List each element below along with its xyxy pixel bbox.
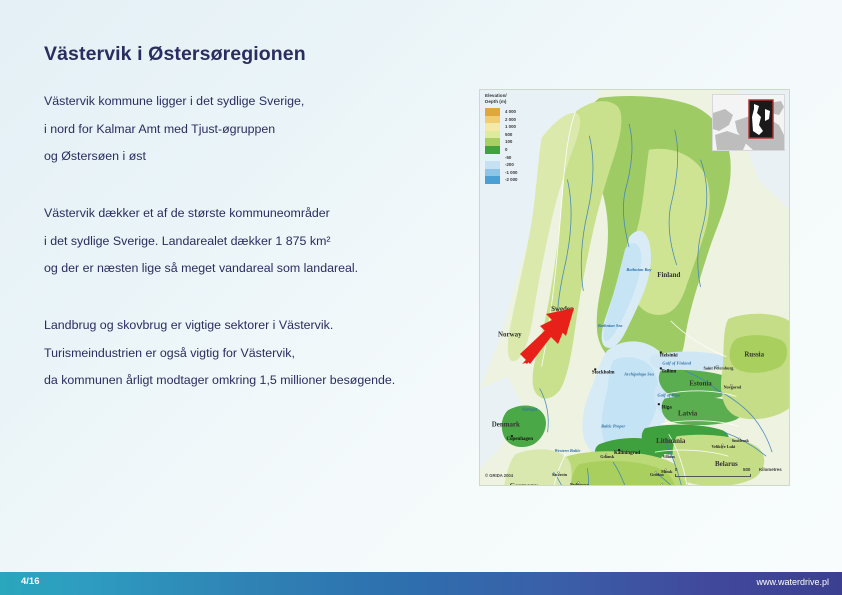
map-scale-labels: 0 500 Kilometres — [675, 467, 783, 474]
map-legend-label: 100 — [505, 138, 512, 146]
map-legend-label: -200 — [505, 161, 514, 169]
map-sea-label: Bothnian Sea — [597, 323, 623, 328]
map-city-dot — [577, 482, 579, 484]
body-line: Landbrug og skovbrug er vigtige sektorer… — [44, 312, 395, 340]
map-legend-swatch — [485, 161, 500, 169]
map-capital-label: Tallinn — [661, 370, 676, 375]
map-legend-row: 1 000 — [485, 123, 547, 131]
map-city-dot — [605, 454, 607, 456]
map-country-label: Lithuania — [656, 437, 686, 445]
map-capital-label: Copenhagen — [506, 437, 533, 442]
map-city-label: Novgorod — [724, 384, 742, 389]
map-legend-swatch — [485, 176, 500, 184]
map-scale-max: 500 — [743, 467, 750, 472]
map-credit-text: © GRIDA 2004 — [485, 473, 513, 478]
map-legend-row: 0 — [485, 146, 547, 154]
map-legend: Elevation/ Depth (m) 4 0002 0001 0005001… — [485, 93, 547, 184]
map-country-label: Russia — [744, 351, 764, 359]
map-capital-label: Riga — [662, 405, 672, 410]
map-sea-label: Western Baltic — [554, 448, 580, 453]
map-country-label: Germany — [510, 482, 539, 485]
map-city-label: Szczecin — [552, 472, 568, 477]
map-sea-label: Gulf of Finland — [662, 361, 691, 366]
map-legend-swatch — [485, 169, 500, 177]
map-scale-bar: 0 500 Kilometres — [675, 467, 783, 477]
map-city-label: Smolensk — [732, 438, 750, 443]
map-legend-swatch — [485, 108, 500, 116]
map-capital-label: Stockholm — [592, 371, 615, 376]
map-scale-min: 0 — [675, 467, 677, 472]
map-capital-marker — [660, 351, 662, 353]
body-paragraph-2: Västervik dækker et af de største kommun… — [44, 200, 358, 283]
map-legend-row: -1 000 — [485, 169, 547, 177]
slide-canvas: Västervik i Østersøregionen Västervik ko… — [0, 0, 842, 595]
map-city-label: Brest — [658, 484, 668, 485]
map-sea-label: Gulf of Riga — [658, 392, 681, 397]
body-line: i nord for Kalmar Amt med Tjust-øgruppen — [44, 116, 304, 144]
map-legend-label: -1 000 — [505, 169, 517, 177]
map-legend-row: 4 000 — [485, 108, 547, 116]
map-sea-label: Kattegat — [521, 406, 538, 411]
map-legend-label: 1 000 — [505, 123, 516, 131]
map-city-dot — [738, 438, 740, 440]
map-legend-row: 100 — [485, 138, 547, 146]
body-line: og Østersøen i øst — [44, 143, 304, 171]
map-city-dot — [667, 454, 669, 456]
map-country-label: Denmark — [492, 420, 520, 428]
map-legend-rows: 4 0002 0001 0005001000-50-200-1 000-2 00… — [485, 108, 547, 184]
map-legend-label: 4 000 — [505, 108, 516, 116]
body-line: Västervik dækker et af de største kommun… — [44, 200, 358, 228]
map-city-label: Gdansk — [600, 454, 615, 459]
map-city-dot — [665, 469, 667, 471]
page-number: 4/16 — [21, 576, 40, 587]
map-sea-label: Baltic Proper — [600, 423, 625, 428]
map-capital-marker — [618, 449, 620, 451]
map-legend-row: -2 000 — [485, 176, 547, 184]
map-legend-label: 2 000 — [505, 116, 516, 124]
map-legend-swatch — [485, 116, 500, 124]
map-city-label: Vilnius — [663, 454, 676, 459]
map-legend-label: 0 — [505, 146, 507, 154]
map-legend-row: 2 000 — [485, 116, 547, 124]
map-legend-swatch — [485, 138, 500, 146]
map-capital-marker — [658, 403, 660, 405]
map-city-dot — [655, 472, 657, 474]
map-legend-label: -50 — [505, 154, 511, 162]
map-legend-swatch — [485, 154, 500, 162]
body-line: og der er næsten lige så meget vandareal… — [44, 255, 358, 283]
map-legend-swatch — [485, 146, 500, 154]
map-city-dot — [730, 384, 732, 386]
body-line: i det sydlige Sverige. Landarealet dække… — [44, 228, 358, 256]
map-city-dot — [717, 365, 719, 367]
map-legend-row: -200 — [485, 161, 547, 169]
map-sea-label: Bothnian Bay — [625, 267, 651, 272]
location-pointer-arrow — [518, 306, 578, 368]
locator-inset-graphic — [713, 95, 784, 150]
map-city-label: Saint Petersburg — [704, 366, 735, 371]
body-paragraph-1: Västervik kommune ligger i det sydlige S… — [44, 88, 304, 171]
body-line: Västervik kommune ligger i det sydlige S… — [44, 88, 304, 116]
map-city-dot — [558, 472, 560, 474]
page-title: Västervik i Østersøregionen — [44, 43, 306, 66]
map-legend-label: 500 — [505, 131, 512, 139]
map-legend-label: -2 000 — [505, 176, 517, 184]
footer-website-url: www.waterdrive.pl — [756, 577, 829, 587]
map-capital-marker — [594, 368, 596, 370]
map-capital-marker — [511, 435, 513, 437]
map-capital-label: Kaliningrad — [614, 451, 640, 456]
map-legend-row: 500 — [485, 131, 547, 139]
map-legend-swatch — [485, 123, 500, 131]
map-legend-row: -50 — [485, 154, 547, 162]
map-city-dot — [722, 444, 724, 446]
map-scale-unit: Kilometres — [759, 467, 782, 472]
footer-bar: 4/16 www.waterdrive.pl — [0, 572, 842, 595]
body-paragraph-3: Landbrug og skovbrug er vigtige sektorer… — [44, 312, 395, 395]
map-country-label: Finland — [657, 271, 680, 279]
map-city-dot — [661, 484, 663, 485]
baltic-region-map-image: Bothnian BayBothnian SeaArchipelago SeaG… — [479, 89, 790, 486]
map-legend-title: Elevation/ Depth (m) — [485, 93, 547, 105]
body-line: Turismeindustrien er også vigtig for Väs… — [44, 340, 395, 368]
map-country-label: Estonia — [689, 379, 712, 387]
map-legend-swatch — [485, 131, 500, 139]
locator-inset-map — [712, 94, 785, 151]
body-line: da kommunen årligt modtager omkring 1,5 … — [44, 367, 395, 395]
map-capital-label: Helsinki — [660, 354, 678, 359]
map-scale-rule — [675, 474, 751, 477]
map-country-label: Latvia — [678, 409, 698, 417]
map-sea-label: Archipelago Sea — [623, 372, 654, 377]
map-capital-marker — [660, 367, 662, 369]
map-city-label: Velikiye Luki — [712, 444, 737, 449]
